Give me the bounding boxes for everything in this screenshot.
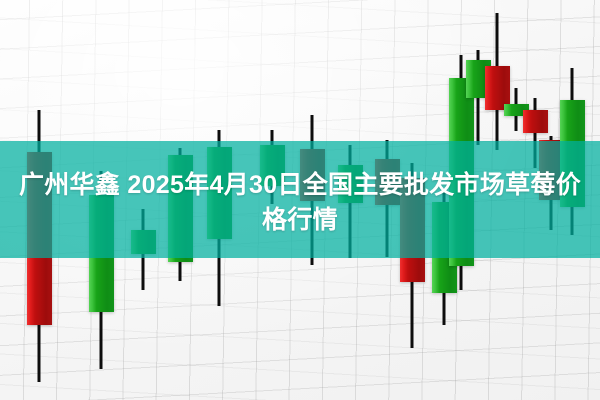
candlestick-banner: 广州华鑫 2025年4月30日全国主要批发市场草莓价格行情: [0, 0, 600, 400]
candle-wick: [534, 98, 537, 168]
candle-body-down: [523, 110, 548, 133]
page-title: 广州华鑫 2025年4月30日全国主要批发市场草莓价格行情: [0, 168, 600, 237]
candle-1: [27, 110, 52, 382]
